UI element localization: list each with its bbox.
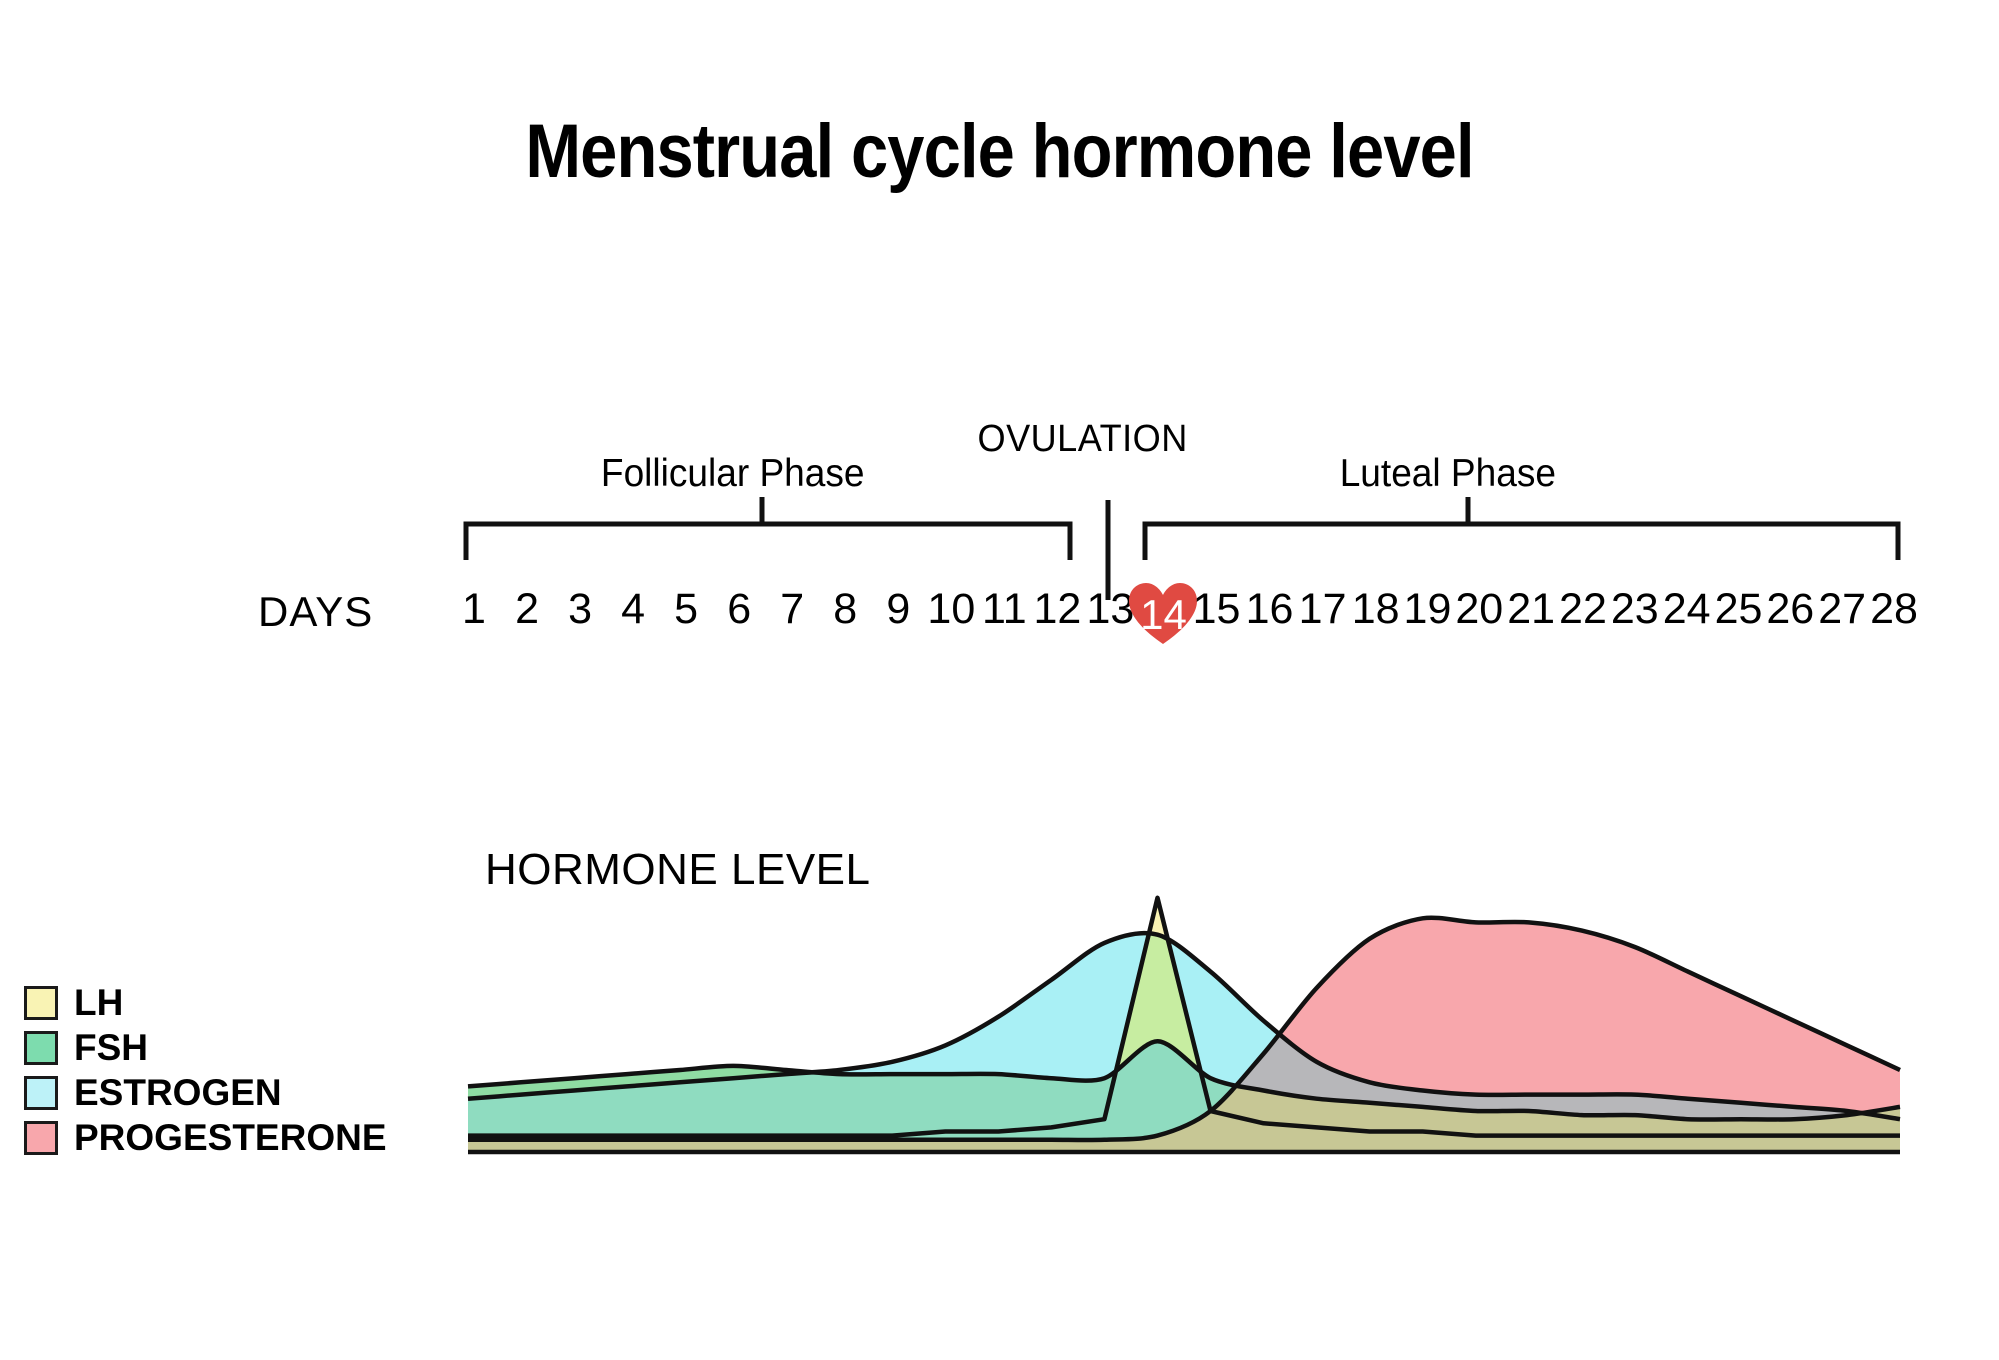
- series-fills: [468, 898, 1900, 1152]
- hormone-area-chart: [0, 0, 1999, 1360]
- chart-canvas: Menstrual cycle hormone level Follicular…: [0, 0, 1999, 1360]
